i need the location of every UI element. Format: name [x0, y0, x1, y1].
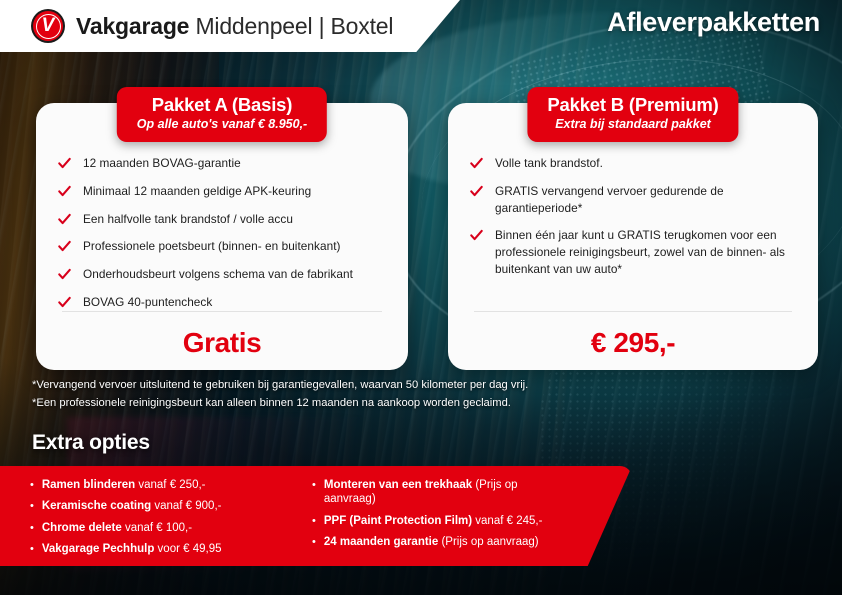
bullet-icon: • — [312, 537, 316, 548]
list-item: Een halfvolle tank brandstof / volle acc… — [58, 211, 390, 228]
package-b-subtitle: Extra bij standaard pakket — [547, 116, 718, 132]
list-item: • PPF (Paint Protection Film) vanaf € 24… — [312, 514, 562, 528]
check-icon — [58, 268, 71, 281]
vakgarage-logo-icon: V — [31, 9, 65, 43]
package-b-price: € 295,- — [448, 327, 818, 359]
extra-option-name: Ramen blinderen — [42, 479, 135, 491]
package-card-a: Pakket A (Basis) Op alle auto's vanaf € … — [36, 103, 408, 370]
brand-lockup: V Vakgarage Middenpeel | Boxtel — [31, 9, 393, 43]
package-a-divider — [62, 311, 382, 312]
check-icon — [470, 157, 483, 170]
list-item: Professionele poetsbeurt (binnen- en bui… — [58, 238, 390, 255]
list-item: • 24 maanden garantie (Prijs op aanvraag… — [312, 535, 562, 549]
package-b-divider — [474, 311, 792, 312]
bullet-icon: • — [312, 516, 316, 527]
bullet-icon: • — [30, 544, 34, 555]
extra-option-text: Chrome delete vanaf € 100,- — [42, 521, 192, 535]
logo-letter: V — [31, 9, 65, 43]
extra-option-name: PPF (Paint Protection Film) — [324, 515, 472, 527]
footnote-1: *Vervangend vervoer uitsluitend te gebru… — [32, 376, 528, 394]
list-item: • Ramen blinderen vanaf € 250,- — [30, 478, 280, 492]
list-item: • Vakgarage Pechhulp voor € 49,95 — [30, 542, 280, 556]
check-icon — [58, 240, 71, 253]
package-b-badge: Pakket B (Premium) Extra bij standaard p… — [527, 87, 738, 142]
header-bar: V Vakgarage Middenpeel | Boxtel Afleverp… — [0, 0, 842, 52]
list-item: Minimaal 12 maanden geldige APK-keuring — [58, 183, 390, 200]
package-a-title: Pakket A (Basis) — [137, 94, 307, 115]
extra-option-value: vanaf € 245,- — [472, 515, 542, 527]
extra-option-value: (Prijs op aanvraag) — [438, 536, 538, 548]
footnotes: *Vervangend vervoer uitsluitend te gebru… — [32, 376, 528, 412]
extra-option-name: Chrome delete — [42, 522, 122, 534]
list-item: Volle tank brandstof. — [470, 155, 800, 172]
list-item: • Keramische coating vanaf € 900,- — [30, 499, 280, 513]
list-item: Binnen één jaar kunt u GRATIS terugkomen… — [470, 227, 800, 277]
bullet-icon: • — [30, 480, 34, 491]
bullet-icon: • — [30, 523, 34, 534]
list-item-label: Volle tank brandstof. — [495, 155, 603, 172]
extra-option-value: vanaf € 900,- — [151, 500, 221, 512]
list-item: BOVAG 40-puntencheck — [58, 294, 390, 311]
list-item: 12 maanden BOVAG-garantie — [58, 155, 390, 172]
list-item-label: GRATIS vervangend vervoer gedurende de g… — [495, 183, 800, 217]
extra-options-heading: Extra opties — [32, 431, 150, 455]
bullet-icon: • — [312, 480, 316, 491]
extra-option-value: vanaf € 100,- — [122, 522, 192, 534]
extra-options-panel: • Ramen blinderen vanaf € 250,- • Kerami… — [0, 466, 632, 566]
extra-option-text: Keramische coating vanaf € 900,- — [42, 499, 222, 513]
check-icon — [58, 296, 71, 309]
brand-name-location: Middenpeel | Boxtel — [189, 13, 393, 39]
extra-option-text: Ramen blinderen vanaf € 250,- — [42, 478, 206, 492]
extra-option-value: voor € 49,95 — [154, 543, 221, 555]
check-icon — [470, 229, 483, 242]
extra-option-value: vanaf € 250,- — [135, 479, 205, 491]
check-icon — [58, 157, 71, 170]
extra-option-name: Monteren van een trekhaak — [324, 479, 472, 491]
package-a-feature-list: 12 maanden BOVAG-garantie Minimaal 12 ma… — [58, 155, 390, 311]
extra-option-text: PPF (Paint Protection Film) vanaf € 245,… — [324, 514, 543, 528]
package-b-feature-list: Volle tank brandstof. GRATIS vervangend … — [470, 155, 800, 278]
list-item-label: Onderhoudsbeurt volgens schema van de fa… — [83, 266, 353, 283]
extra-option-text: Vakgarage Pechhulp voor € 49,95 — [42, 542, 222, 556]
brand-name: Vakgarage Middenpeel | Boxtel — [76, 13, 393, 40]
extra-option-text: Monteren van een trekhaak (Prijs op aanv… — [324, 478, 562, 507]
brand-name-bold: Vakgarage — [76, 13, 189, 39]
check-icon — [58, 185, 71, 198]
extra-option-text: 24 maanden garantie (Prijs op aanvraag) — [324, 535, 539, 549]
extra-options-columns: • Ramen blinderen vanaf € 250,- • Kerami… — [30, 478, 562, 564]
list-item-label: Binnen één jaar kunt u GRATIS terugkomen… — [495, 227, 800, 277]
list-item: • Monteren van een trekhaak (Prijs op aa… — [312, 478, 562, 507]
package-card-b: Pakket B (Premium) Extra bij standaard p… — [448, 103, 818, 370]
extra-option-name: Keramische coating — [42, 500, 151, 512]
package-a-subtitle: Op alle auto's vanaf € 8.950,- — [137, 116, 307, 132]
list-item-label: Professionele poetsbeurt (binnen- en bui… — [83, 238, 341, 255]
extra-option-name: Vakgarage Pechhulp — [42, 543, 155, 555]
check-icon — [470, 185, 483, 198]
package-b-title: Pakket B (Premium) — [547, 94, 718, 115]
list-item-label: Een halfvolle tank brandstof / volle acc… — [83, 211, 293, 228]
list-item: • Chrome delete vanaf € 100,- — [30, 521, 280, 535]
list-item: GRATIS vervangend vervoer gedurende de g… — [470, 183, 800, 217]
list-item-label: Minimaal 12 maanden geldige APK-keuring — [83, 183, 311, 200]
footnote-2: *Een professionele reinigingsbeurt kan a… — [32, 394, 528, 412]
extra-option-name: 24 maanden garantie — [324, 536, 438, 548]
page-title: Afleverpakketten — [607, 7, 820, 38]
list-item-label: 12 maanden BOVAG-garantie — [83, 155, 241, 172]
extra-options-column-1: • Ramen blinderen vanaf € 250,- • Kerami… — [30, 478, 280, 564]
package-a-badge: Pakket A (Basis) Op alle auto's vanaf € … — [117, 87, 327, 142]
list-item: Onderhoudsbeurt volgens schema van de fa… — [58, 266, 390, 283]
bullet-icon: • — [30, 501, 34, 512]
list-item-label: BOVAG 40-puntencheck — [83, 294, 212, 311]
package-a-price: Gratis — [36, 327, 408, 359]
extra-options-column-2: • Monteren van een trekhaak (Prijs op aa… — [312, 478, 562, 564]
check-icon — [58, 213, 71, 226]
